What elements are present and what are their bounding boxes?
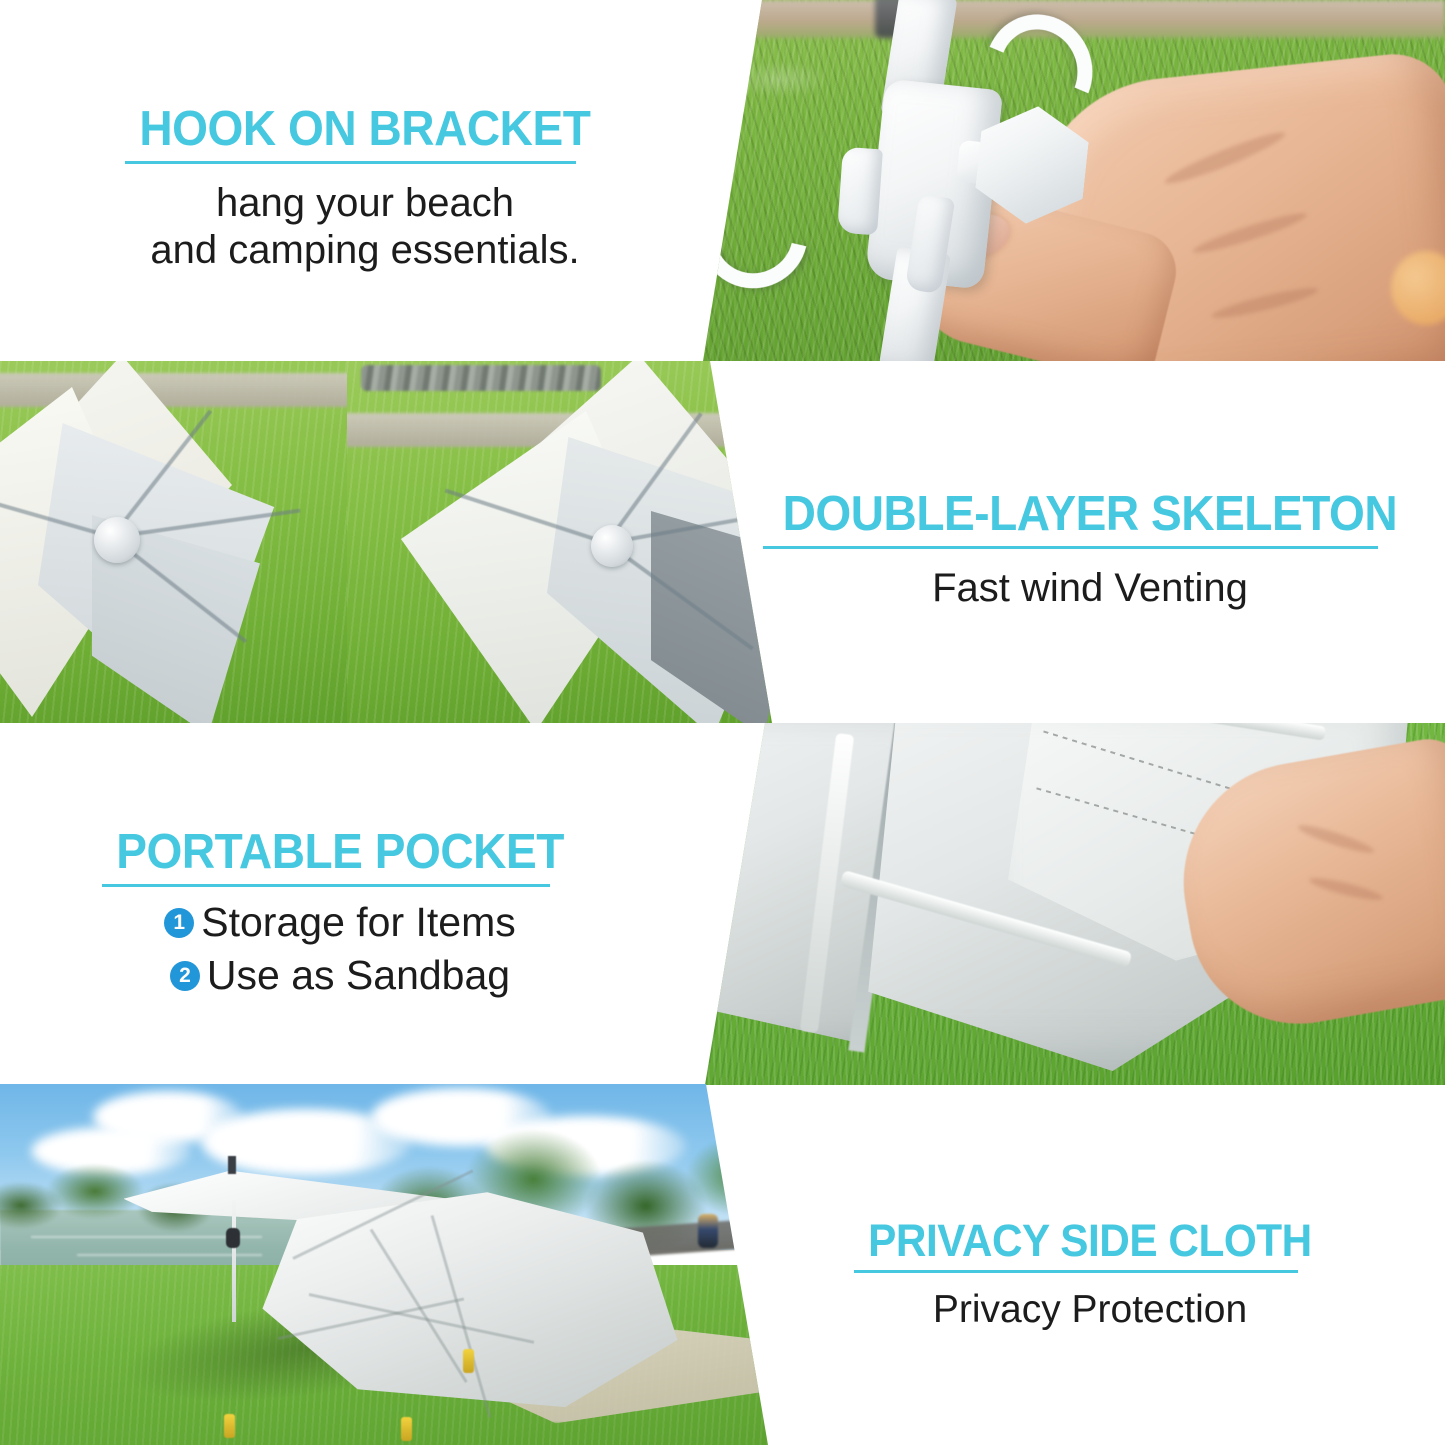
feature-text-double-layer-skeleton: DOUBLE-LAYER SKELETON Fast wind Venting bbox=[740, 490, 1440, 612]
pole-clamp bbox=[226, 1228, 240, 1248]
feature-text-privacy-side-cloth: PRIVACY SIDE CLOTH Privacy Protection bbox=[790, 1218, 1390, 1333]
photo-hook-bracket bbox=[690, 0, 1445, 361]
tent-scene-image bbox=[0, 1084, 772, 1445]
canopy-hub bbox=[591, 525, 633, 567]
portable-pocket-image bbox=[690, 723, 1445, 1085]
umbrella-image-right bbox=[347, 361, 772, 723]
cyclist bbox=[698, 1214, 718, 1248]
feature-text-hook-on-bracket: HOOK ON BRACKET hang your beach and camp… bbox=[60, 105, 670, 274]
feature-subtitle-line-1: hang your beach bbox=[60, 180, 670, 227]
feature-heading: HOOK ON BRACKET bbox=[140, 105, 591, 154]
photo-portable-pocket bbox=[690, 723, 1445, 1085]
bullet-number-badge: 1 bbox=[164, 908, 194, 938]
feature-text-portable-pocket: PORTABLE POCKET 1 Storage for Items 2 Us… bbox=[60, 828, 620, 999]
photo-privacy-side-cloth bbox=[0, 1084, 772, 1445]
ground-peg bbox=[224, 1414, 235, 1438]
heading-underline bbox=[854, 1270, 1298, 1273]
heading-underline bbox=[125, 161, 576, 164]
feature-subtitle-line-1: Privacy Protection bbox=[790, 1287, 1390, 1333]
feature-heading: DOUBLE-LAYER SKELETON bbox=[783, 490, 1398, 539]
list-item: 1 Storage for Items bbox=[60, 899, 620, 946]
canopy-peak-fitting bbox=[228, 1156, 236, 1174]
bracket-hook-nub-left bbox=[837, 147, 883, 236]
product-feature-infographic: HOOK ON BRACKET hang your beach and camp… bbox=[0, 0, 1445, 1445]
feature-subtitle-line-2: and camping essentials. bbox=[60, 227, 670, 274]
canopy-hub bbox=[94, 517, 140, 563]
list-item: 2 Use as Sandbag bbox=[60, 952, 620, 999]
feature-heading: PORTABLE POCKET bbox=[116, 828, 564, 877]
heading-underline bbox=[102, 884, 550, 887]
feature-heading: PRIVACY SIDE CLOTH bbox=[868, 1218, 1312, 1263]
umbrella-canopy bbox=[0, 365, 272, 723]
photo-double-layer-skeleton bbox=[0, 361, 772, 723]
ground-peg bbox=[401, 1417, 412, 1441]
ground-peg bbox=[463, 1349, 474, 1373]
heading-underline bbox=[763, 546, 1378, 549]
canopy-pole bbox=[232, 1200, 236, 1323]
umbrella-image-left bbox=[0, 361, 347, 723]
bullet-text: Use as Sandbag bbox=[207, 952, 510, 999]
umbrella-canopy bbox=[455, 371, 772, 723]
bullet-number-badge: 2 bbox=[170, 961, 200, 991]
hook-bracket-image bbox=[690, 0, 1445, 361]
feature-bullet-list: 1 Storage for Items 2 Use as Sandbag bbox=[60, 899, 620, 999]
bullet-text: Storage for Items bbox=[201, 899, 515, 946]
feature-subtitle-line-1: Fast wind Venting bbox=[740, 565, 1440, 612]
